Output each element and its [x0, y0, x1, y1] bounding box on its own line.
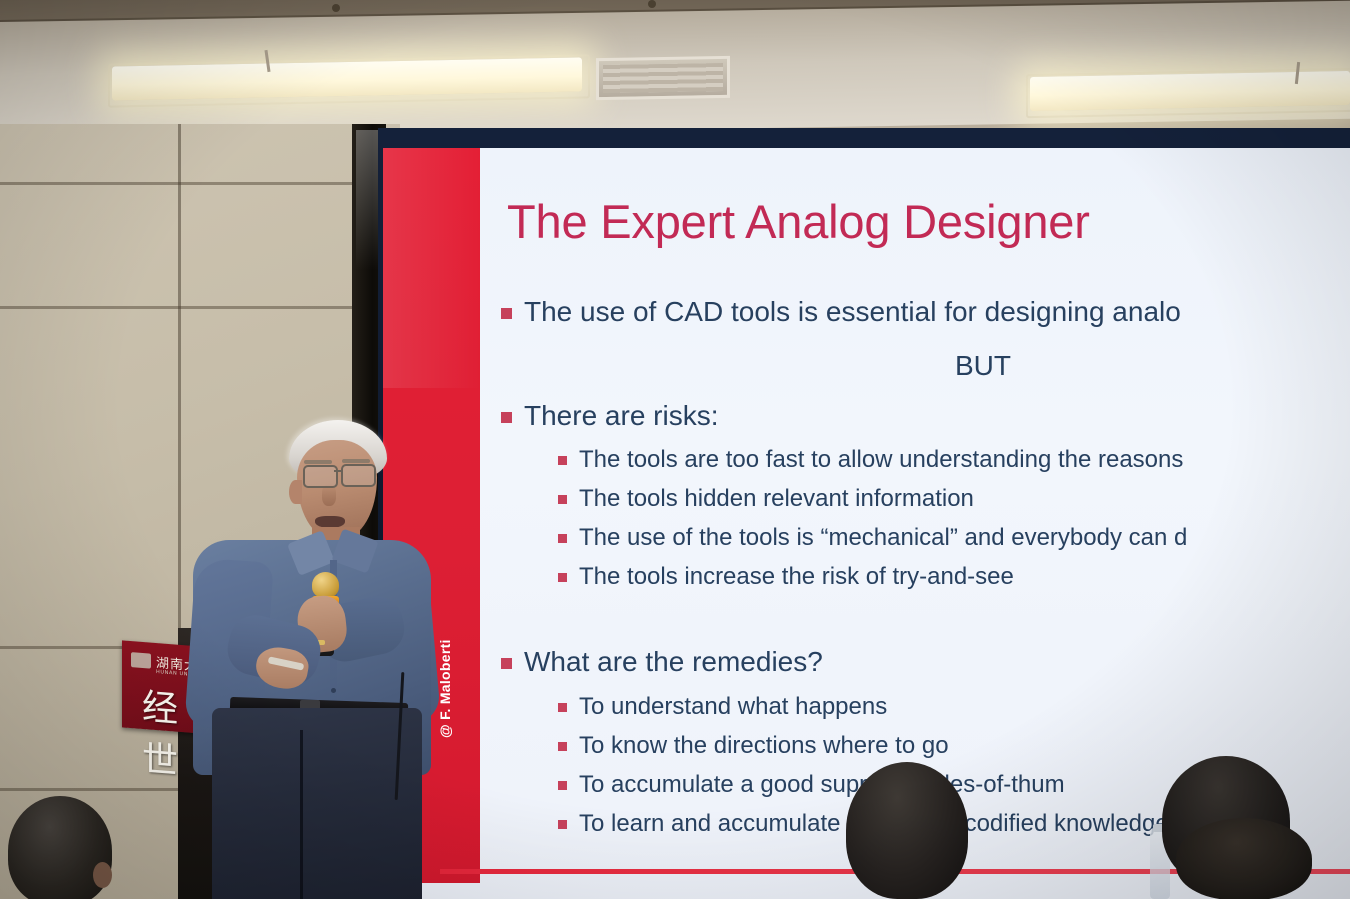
shirt-button	[331, 688, 336, 693]
slide-subbullet-risk-1: The tools are too fast to allow understa…	[558, 446, 1183, 474]
slide-bullet-text: The use of the tools is “mechanical” and…	[579, 524, 1187, 551]
audience-head-center	[846, 762, 968, 899]
slide-bullet-remedies-heading: What are the remedies?	[501, 646, 823, 678]
audience-head-right-front	[1176, 818, 1312, 899]
slide-watermark: @ F. Maloberti	[437, 639, 453, 738]
slide-bullet-risks-heading: There are risks:	[501, 400, 719, 432]
bullet-square-icon	[558, 534, 567, 543]
slide-subbullet-risk-4: The tools increase the risk of try-and-s…	[558, 563, 1014, 591]
bullet-square-icon	[501, 658, 512, 669]
slide-bullet-text: The use of CAD tools is essential for de…	[524, 296, 1181, 327]
audience-ear	[93, 862, 112, 888]
slide-bullet-text: What are the remedies?	[524, 646, 823, 677]
slide-bullet-text: The tools are too fast to allow understa…	[579, 446, 1183, 473]
bullet-square-icon	[558, 820, 567, 829]
speaker-eyebrow-left	[304, 460, 332, 464]
slide-bullet-text: To accumulate a good supply of rules-of-…	[579, 771, 1065, 798]
bullet-square-icon	[558, 781, 567, 790]
bullet-square-icon	[558, 703, 567, 712]
vent-slats	[603, 63, 723, 93]
speaker-ear	[289, 480, 302, 504]
speaker-trousers	[212, 708, 422, 899]
slide-bullet-text: To understand what happens	[579, 693, 887, 720]
bullet-square-icon	[558, 495, 567, 504]
speaker-glasses-right-lens	[341, 464, 376, 487]
bullet-square-icon	[501, 412, 512, 423]
lecture-photo: @ F. Maloberti The Expert Analog Designe…	[0, 0, 1350, 899]
ceiling-light-right	[1030, 71, 1350, 111]
wall-gloss-highlight	[356, 130, 378, 330]
bullet-square-icon	[558, 456, 567, 465]
slide-subbullet-remedy-2: To know the directions where to go	[558, 732, 949, 760]
slide-sidebar-highlight	[383, 148, 480, 388]
bullet-square-icon	[558, 742, 567, 751]
wall-seam	[0, 306, 400, 309]
ceiling-fixture-dot	[332, 4, 340, 12]
university-logo-icon	[131, 652, 151, 669]
slide-bullet-text: There are risks:	[524, 400, 719, 431]
bullet-square-icon	[501, 308, 512, 319]
slide-bullet-text: The tools hidden relevant information	[579, 485, 974, 512]
slide-subbullet-risk-2: The tools hidden relevant information	[558, 485, 974, 513]
speaker-eyebrow-right	[342, 459, 370, 463]
microphone-head-icon	[312, 572, 339, 598]
speaker-nose	[322, 484, 336, 506]
ceiling-air-vent	[596, 56, 730, 100]
slide-subbullet-risk-3: The use of the tools is “mechanical” and…	[558, 524, 1187, 552]
slide-subbullet-remedy-3: To accumulate a good supply of rules-of-…	[558, 771, 1065, 799]
slide-bullet-cad-statement: The use of CAD tools is essential for de…	[501, 296, 1181, 328]
slide-title: The Expert Analog Designer	[507, 194, 1090, 249]
slide-center-but: BUT	[955, 350, 1011, 382]
wall-seam	[0, 182, 400, 185]
speaker-glasses-bridge	[334, 470, 342, 472]
ceiling-fixture-dot	[648, 0, 656, 8]
slide-bullet-text: The tools increase the risk of try-and-s…	[579, 563, 1014, 590]
slide-bullet-text: To know the directions where to go	[579, 732, 949, 759]
speaker-trouser-crease	[300, 730, 303, 899]
slide-subbullet-remedy-1: To understand what happens	[558, 693, 887, 721]
bullet-square-icon	[558, 573, 567, 582]
